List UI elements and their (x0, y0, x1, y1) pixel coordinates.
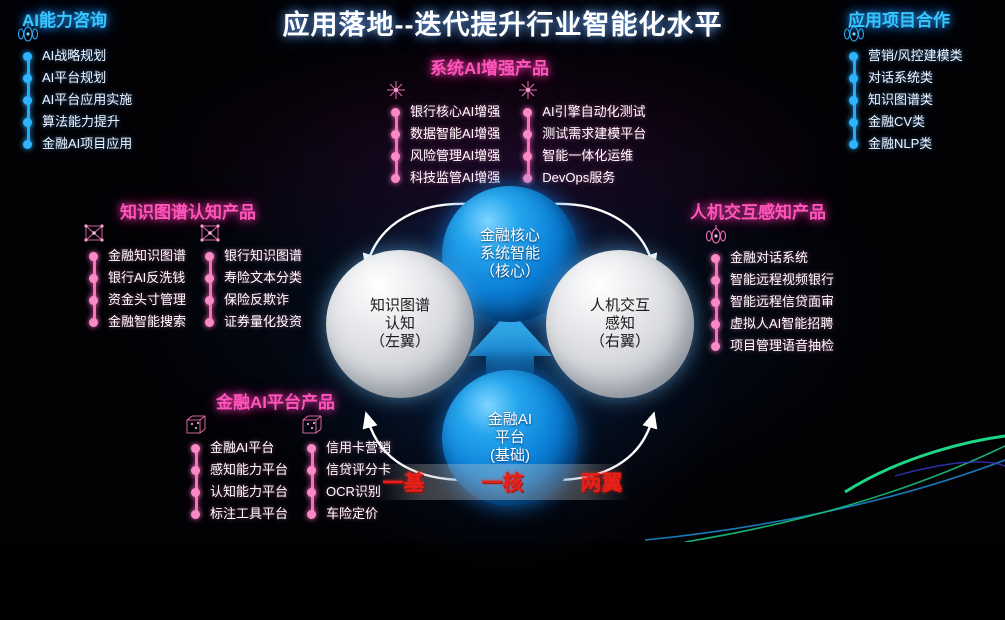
list-item: 证券量化投资 (224, 311, 302, 333)
bullet-dot (205, 318, 214, 327)
bullet-dot (191, 510, 200, 519)
list-item: AI平台规划 (42, 67, 132, 89)
list-ai-consulting: AI战略规划 AI平台规划 AI平台应用实施 算法能力提升 金融AI项目应用 (22, 45, 132, 155)
bullet-dot (191, 488, 200, 497)
list-item-label: 金融AI项目应用 (42, 136, 132, 151)
block-title-system-ai: 系统AI增强产品 (430, 54, 646, 79)
list-item: 风险管理AI增强 (410, 145, 500, 167)
list-item: 银行核心AI增强 (410, 101, 500, 123)
bullet-dot (191, 444, 200, 453)
list-item-label: 银行核心AI增强 (410, 104, 500, 119)
bullet-dot (23, 118, 32, 127)
slogan-word-3: 两翼 (581, 467, 623, 497)
list-item-label: 营销/风控建模类 (868, 48, 963, 63)
list-item-label: 智能一体化运维 (542, 148, 633, 163)
cross-node-icon (383, 79, 409, 103)
list-item: 保险反欺诈 (224, 289, 302, 311)
sphere-base-line1: 金融AI (488, 411, 532, 429)
list-item-label: AI战略规划 (42, 48, 106, 63)
list-spine (527, 111, 530, 179)
bullet-dot (711, 276, 720, 285)
list-item: 对话系统类 (868, 67, 963, 89)
bullet-dot (391, 152, 400, 161)
bullet-dot (23, 96, 32, 105)
list-item-label: 金融智能搜索 (108, 314, 186, 329)
slogan-banner: 一基 一核 两翼 (377, 464, 629, 500)
list-item-label: 保险反欺诈 (224, 292, 289, 307)
sphere-right-label: 人机交互 感知 （右翼） (590, 297, 650, 352)
list-project-cooperation: 营销/风控建模类 对话系统类 知识图谱类 金融CV类 金融NLP类 (848, 45, 963, 155)
sphere-right-line2: 感知 (590, 315, 650, 333)
list-item: 测试需求建模平台 (542, 123, 646, 145)
list-item: 认知能力平台 (210, 481, 288, 503)
sphere-right-line3: （右翼） (590, 333, 650, 351)
bullet-dot (89, 252, 98, 261)
sphere-left-label: 知识图谱 认知 （左翼） (370, 297, 430, 352)
bullet-dot (849, 96, 858, 105)
list-item-label: 算法能力提升 (42, 114, 120, 129)
sphere-base-label: 金融AI 平台 (基础) (488, 411, 532, 466)
list-item-label: 证券量化投资 (224, 314, 302, 329)
list-item: 金融NLP类 (868, 133, 963, 155)
list-item-label: 车险定价 (326, 506, 378, 521)
list-item-label: 感知能力平台 (210, 462, 288, 477)
list-item: 知识图谱类 (868, 89, 963, 111)
sphere-core-label: 金融核心 系统智能 （核心） (480, 227, 540, 282)
list-item: 智能一体化运维 (542, 145, 646, 167)
bullet-dot (89, 274, 98, 283)
bullet-dot (711, 298, 720, 307)
list-item: 智能远程信贷面审 (730, 291, 834, 313)
list-item-label: 标注工具平台 (210, 506, 288, 521)
center-diagram: 金融核心 系统智能 （核心） 知识图谱 认知 （左翼） 人机交互 感知 （右翼）… (320, 180, 700, 500)
list-item: 算法能力提升 (42, 111, 132, 133)
bullet-dot (523, 108, 532, 117)
bullet-dot (307, 466, 316, 475)
bullet-dot (23, 140, 32, 149)
list-item: AI平台应用实施 (42, 89, 132, 111)
list-item: 金融AI项目应用 (42, 133, 132, 155)
satellite-node-icon (703, 225, 729, 249)
list-item-label: 对话系统类 (868, 70, 933, 85)
list-item: 金融AI平台 (210, 437, 288, 459)
list-item: 虚拟人AI智能招聘 (730, 313, 834, 335)
list-item-label: 银行AI反洗钱 (108, 270, 185, 285)
list-item-label: AI引擎自动化测试 (542, 104, 645, 119)
bullet-dot (849, 52, 858, 61)
list-item: 金融知识图谱 (108, 245, 186, 267)
list-system-ai-col2: AI引擎自动化测试 测试需求建模平台 智能一体化运维 DevOps服务 (522, 101, 646, 189)
list-item: 金融CV类 (868, 111, 963, 133)
list-item: 车险定价 (326, 503, 391, 525)
list-item: 资金头寸管理 (108, 289, 186, 311)
bullet-dot (191, 466, 200, 475)
list-knowledge-graph-col2: 银行知识图谱 寿险文本分类 保险反欺诈 证券量化投资 (204, 245, 302, 333)
list-item-label: 测试需求建模平台 (542, 126, 646, 141)
list-item: 金融对话系统 (730, 247, 834, 269)
sphere-base-line3: (基础) (488, 447, 532, 465)
list-system-ai-col1: 银行核心AI增强 数据智能AI增强 风险管理AI增强 科技监管AI增强 (390, 101, 500, 189)
block-hci: 人机交互感知产品 金融对话系统 智能远程视频银行 智能远程信贷面审 虚拟人AI智… (690, 198, 834, 357)
graph-node-icon (81, 223, 107, 247)
page-title: 应用落地--迭代提升行业智能化水平 (0, 3, 1005, 42)
bullet-dot (89, 318, 98, 327)
list-spine (195, 447, 198, 515)
list-knowledge-graph-col1: 金融知识图谱 银行AI反洗钱 资金头寸管理 金融智能搜索 (88, 245, 186, 333)
list-item-label: 智能远程视频银行 (730, 272, 834, 287)
list-platform-col1: 金融AI平台 感知能力平台 认知能力平台 标注工具平台 (190, 437, 288, 525)
list-spine (209, 255, 212, 323)
list-item-label: 认知能力平台 (210, 484, 288, 499)
cube-node-icon (183, 415, 209, 439)
sphere-core-line3: （核心） (480, 263, 540, 281)
bullet-dot (523, 130, 532, 139)
slogan-word-2: 一核 (482, 467, 524, 497)
bullet-dot (89, 296, 98, 305)
list-item-label: 知识图谱类 (868, 92, 933, 107)
list-item: 智能远程视频银行 (730, 269, 834, 291)
list-item-label: 资金头寸管理 (108, 292, 186, 307)
list-spine (93, 255, 96, 323)
list-item-label: 金融CV类 (868, 114, 925, 129)
list-item-label: AI平台规划 (42, 70, 106, 85)
list-item-label: 金融NLP类 (868, 136, 932, 151)
list-item: 银行知识图谱 (224, 245, 302, 267)
bullet-dot (307, 444, 316, 453)
list-item: 银行AI反洗钱 (108, 267, 186, 289)
list-item: 金融智能搜索 (108, 311, 186, 333)
bullet-dot (849, 140, 858, 149)
sphere-left-line3: （左翼） (370, 333, 430, 351)
bullet-dot (205, 252, 214, 261)
sphere-core-line1: 金融核心 (480, 227, 540, 245)
sphere-right-wing[interactable]: 人机交互 感知 （右翼） (546, 250, 694, 398)
bullet-dot (23, 52, 32, 61)
list-item: 营销/风控建模类 (868, 45, 963, 67)
bullet-dot (23, 74, 32, 83)
block-system-ai: 系统AI增强产品 银行核心AI增强 数据智能AI增强 风险管理AI增强 科技监管… (390, 54, 646, 189)
list-item: 寿险文本分类 (224, 267, 302, 289)
list-item-label: 项目管理语音抽检 (730, 338, 834, 353)
bullet-dot (849, 74, 858, 83)
bullet-dot (205, 296, 214, 305)
sphere-right-line1: 人机交互 (590, 297, 650, 315)
list-item-label: 智能远程信贷面审 (730, 294, 834, 309)
list-item-label: 虚拟人AI智能招聘 (730, 316, 833, 331)
sphere-core-line2: 系统智能 (480, 245, 540, 263)
list-item-label: 风险管理AI增强 (410, 148, 500, 163)
bullet-dot (391, 130, 400, 139)
list-item: AI引擎自动化测试 (542, 101, 646, 123)
list-hci: 金融对话系统 智能远程视频银行 智能远程信贷面审 虚拟人AI智能招聘 项目管理语… (710, 247, 834, 357)
bullet-dot (205, 274, 214, 283)
list-item-label: AI平台应用实施 (42, 92, 132, 107)
bullet-dot (711, 254, 720, 263)
block-knowledge-graph: 知识图谱认知产品 金融知识图谱 银行AI反洗钱 资金头寸管理 金融智能搜索 (88, 198, 302, 333)
sphere-left-line1: 知识图谱 (370, 297, 430, 315)
block-title-knowledge-graph: 知识图谱认知产品 (120, 198, 302, 223)
bullet-dot (307, 510, 316, 519)
sphere-left-wing[interactable]: 知识图谱 认知 （左翼） (326, 250, 474, 398)
bullet-dot (523, 152, 532, 161)
bullet-dot (711, 320, 720, 329)
list-item: 感知能力平台 (210, 459, 288, 481)
bullet-dot (391, 108, 400, 117)
list-item-label: 金融对话系统 (730, 250, 808, 265)
list-item-label: 寿险文本分类 (224, 270, 302, 285)
list-item: 项目管理语音抽检 (730, 335, 834, 357)
slogan-word-1: 一基 (383, 467, 425, 497)
list-item-label: 金融知识图谱 (108, 248, 186, 263)
sphere-base-line2: 平台 (488, 429, 532, 447)
graph-node-icon (197, 223, 223, 247)
list-spine (395, 111, 398, 179)
bullet-dot (849, 118, 858, 127)
list-item-label: 银行知识图谱 (224, 248, 302, 263)
list-item: 标注工具平台 (210, 503, 288, 525)
list-spine (311, 447, 314, 515)
bullet-dot (307, 488, 316, 497)
list-item-label: 数据智能AI增强 (410, 126, 500, 141)
block-title-hci: 人机交互感知产品 (690, 198, 834, 223)
list-item: 数据智能AI增强 (410, 123, 500, 145)
bullet-dot (711, 342, 720, 351)
cross-node-icon (515, 79, 541, 103)
list-item-label: 金融AI平台 (210, 440, 274, 455)
sphere-left-line2: 认知 (370, 315, 430, 333)
list-item: AI战略规划 (42, 45, 132, 67)
